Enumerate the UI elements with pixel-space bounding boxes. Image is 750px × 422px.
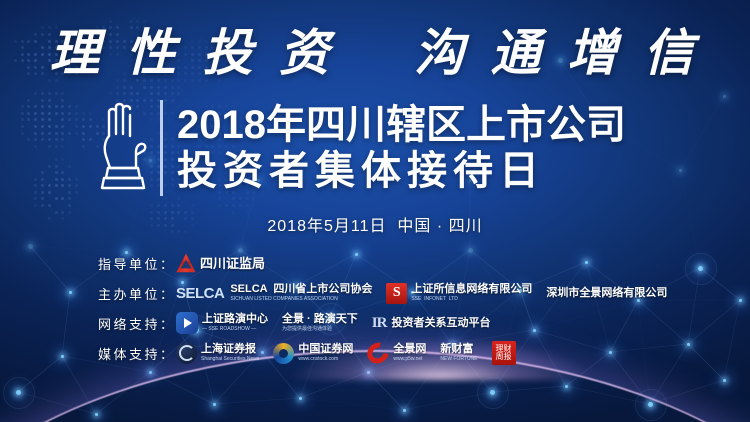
credit-row-logos: 四川证监局 [176, 253, 279, 273]
sponsor-logo-name: SELCA 四川省上市公司协会 [230, 284, 372, 295]
sponsor-logo[interactable]: IR投资者关系互动平台 [372, 315, 491, 332]
sponsor-logo-subtitle: 为您提供最佳沟通体验 [282, 327, 358, 332]
credit-row-label: 网络支持： [98, 314, 176, 333]
sponsor-logo-name: 上证路演中心 [202, 314, 268, 325]
poster-slogan: 理 性 投 资 沟 通 增 信 [0, 28, 750, 78]
sponsor-logo-text: SELCA 四川省上市公司协会SICHUAN LISTED COMPANIES … [230, 284, 372, 302]
event-date-location: 2018年5月11日 中国 · 四川 [0, 212, 750, 236]
sponsor-logo-name: 上海证券报 [201, 344, 259, 355]
sponsor-logo[interactable]: 四川证监局 [176, 253, 265, 273]
investor-protection-hand-icon [96, 96, 150, 200]
credit-row-logos: SELCASELCA 四川省上市公司协会SICHUAN LISTED COMPA… [176, 283, 681, 304]
sponsor-logo[interactable]: 新财富NEW FORTUNE [440, 344, 477, 362]
sponsor-logo-subtitle: — SSE ROADSHOW — [202, 327, 268, 332]
sponsor-logo-text: 深圳市全景网络有限公司 [546, 288, 667, 299]
sponsor-logo-text: 上证所信息网络有限公司SSE INFONET LTD [411, 284, 532, 302]
credit-row: 媒体支持：上海证券报Shanghai Securities News中国证券网w… [0, 338, 750, 368]
sponsor-logo-subtitle: SSE INFONET LTD [411, 297, 532, 302]
sponsor-logo-text: 四川证监局 [200, 257, 265, 270]
credit-row-logos: 上证路演中心— SSE ROADSHOW —全景 · 路演天下为您提供最佳沟通体… [176, 312, 504, 334]
sponsor-logo[interactable]: 中国证券网www.cnstock.com [273, 343, 353, 364]
credit-row: 网络支持：上证路演中心— SSE ROADSHOW —全景 · 路演天下为您提供… [0, 308, 750, 338]
sponsor-logo-text: 上证路演中心— SSE ROADSHOW — [202, 314, 268, 332]
sponsor-logo-name: 中国证券网 [298, 344, 353, 355]
sponsor-logo-name: 深圳市全景网络有限公司 [546, 288, 667, 299]
credit-row-label: 媒体支持： [98, 344, 176, 363]
credit-row-logos: 上海证券报Shanghai Securities News中国证券网www.cn… [176, 341, 534, 365]
headline-line-2: 投资者集体接待日 [177, 150, 626, 192]
sponsor-logo-text: 新财富NEW FORTUNE [440, 344, 477, 362]
credit-row: 主办单位：SELCASELCA 四川省上市公司协会SICHUAN LISTED … [0, 278, 750, 308]
ir-icon: IR [372, 315, 387, 332]
csrc-triangle-icon [176, 253, 196, 273]
headline-block: 2018年四川辖区上市公司 投资者集体接待日 [96, 96, 626, 200]
sponsor-logo-subtitle: www.cnstock.com [298, 357, 353, 362]
sponsor-logo[interactable]: 理财 周报 [492, 341, 520, 365]
sponsor-logo-name: 全景 · 路演天下 [282, 314, 358, 325]
sponsor-logo[interactable]: 深圳市全景网络有限公司 [546, 288, 667, 299]
credit-row-label: 主办单位： [98, 284, 176, 303]
sponsor-logo-subtitle: Shanghai Securities News [201, 357, 259, 362]
headline-line-1: 2018年四川辖区上市公司 [177, 104, 626, 146]
sponsor-logo-text: 全景 · 路演天下为您提供最佳沟通体验 [282, 314, 358, 332]
sse-roadshow-play-icon [176, 312, 198, 334]
sponsor-logo-subtitle: NEW FORTUNE [440, 357, 477, 362]
sponsor-logo-text: 上海证券报Shanghai Securities News [201, 344, 259, 362]
sponsor-logo-text: 全景网www.p5w.net [393, 344, 426, 362]
sponsor-logo-name: 新财富 [440, 344, 477, 355]
sponsor-logo-name: 全景网 [393, 344, 426, 355]
sponsor-credits: 指导单位：四川证监局主办单位：SELCASELCA 四川省上市公司协会SICHU… [0, 248, 750, 368]
sponsor-logo-subtitle: www.p5w.net [393, 357, 426, 362]
credit-row-label: 指导单位： [98, 254, 176, 273]
sponsor-logo[interactable]: 全景网www.p5w.net [367, 343, 426, 363]
sponsor-logo-subtitle: SICHUAN LISTED COMPANIES ASSOCIATION [230, 297, 372, 302]
p5w-icon [367, 343, 389, 363]
sponsor-logo[interactable]: 上海证券报Shanghai Securities News [176, 343, 259, 364]
sponsor-logo[interactable]: S上证所信息网络有限公司SSE INFONET LTD [386, 283, 532, 304]
headline-divider [160, 100, 163, 196]
sponsor-logo[interactable]: SELCASELCA 四川省上市公司协会SICHUAN LISTED COMPA… [176, 284, 372, 302]
sponsor-logo[interactable]: 全景 · 路演天下为您提供最佳沟通体验 [282, 314, 358, 332]
sse-infonet-icon: S [386, 283, 407, 304]
event-poster: 理 性 投 资 沟 通 增 信 2018年四川辖区上市公司 投资者集体接待日 2… [0, 0, 750, 422]
sponsor-logo-name: 四川证监局 [200, 257, 265, 270]
selca-icon: SELCA [176, 285, 224, 302]
credit-row: 指导单位：四川证监局 [0, 248, 750, 278]
sponsor-logo-name: 投资者关系互动平台 [391, 318, 490, 329]
seal-icon: 理财 周报 [492, 341, 516, 365]
cnstock-icon [273, 343, 294, 364]
sponsor-logo[interactable]: 上证路演中心— SSE ROADSHOW — [176, 312, 268, 334]
sponsor-logo-name: 上证所信息网络有限公司 [411, 284, 532, 295]
sponsor-logo-text: 投资者关系互动平台 [391, 318, 490, 329]
sponsor-logo-text: 中国证券网www.cnstock.com [298, 344, 353, 362]
shanghai-securities-news-icon [176, 343, 197, 364]
